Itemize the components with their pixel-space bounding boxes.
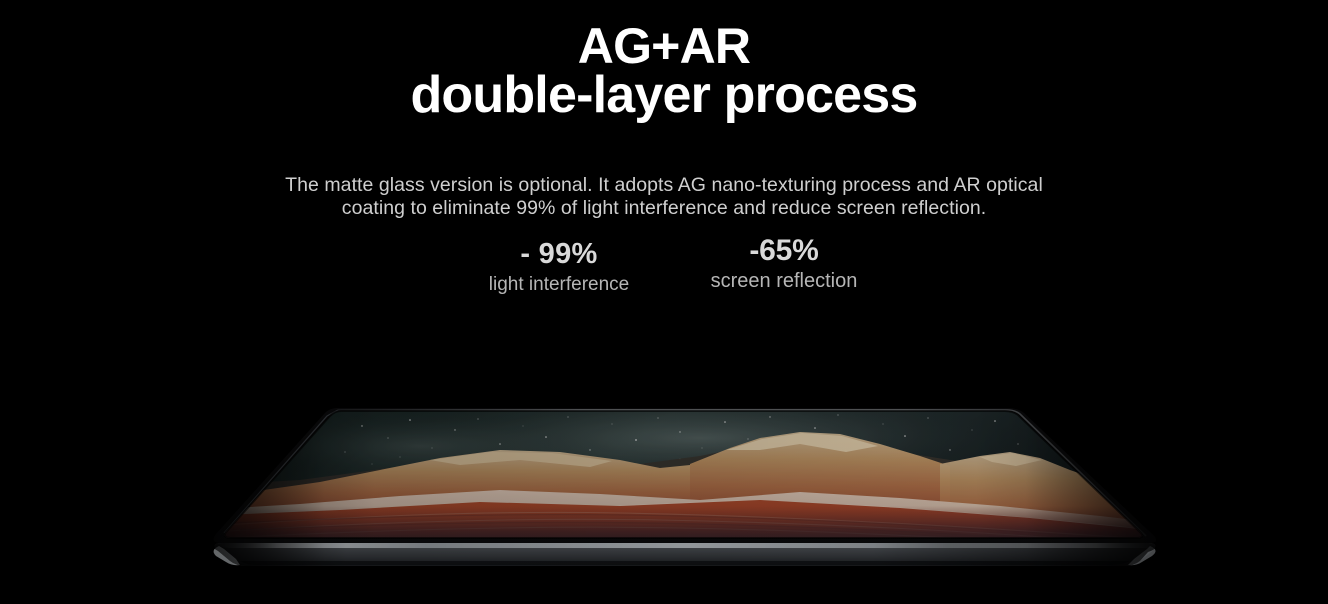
product-feature-section: AG+AR double-layer process The matte gla… [0, 0, 1328, 604]
tablet-device [0, 360, 1328, 604]
headline-line-1: AG+AR [0, 22, 1328, 71]
stats-row: - 99% light interference -65% screen ref… [0, 232, 1328, 302]
description-text: The matte glass version is optional. It … [284, 174, 1044, 220]
stat-label: light interference [489, 273, 629, 297]
stat-value: -65% [711, 234, 858, 267]
stat-value: - 99% [489, 238, 629, 270]
stat-light-interference: - 99% light interference [489, 238, 629, 297]
headline-line-2: double-layer process [0, 71, 1328, 120]
stat-screen-reflection: -65% screen reflection [711, 234, 858, 294]
stat-label: screen reflection [711, 269, 858, 294]
page-title: AG+AR double-layer process [0, 22, 1328, 120]
device-vignette [211, 408, 1158, 566]
